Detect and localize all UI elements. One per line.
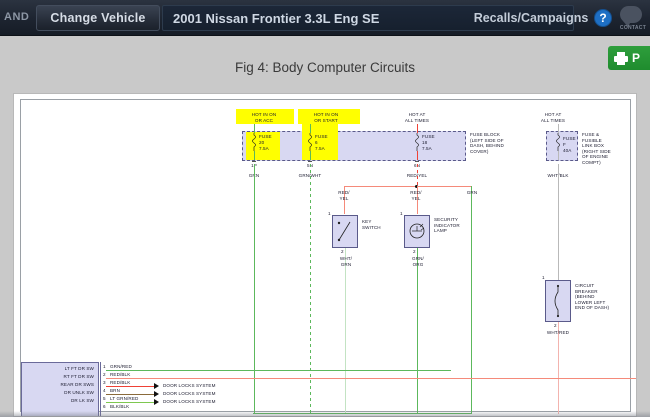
fuse-2-lead-bottom <box>310 151 311 160</box>
switch-label-rt-ft-dr-sw: RT FT DR SW <box>42 374 94 380</box>
diagram-canvas: HOT IN ON OR ACC HOT IN ON OR START HOT … <box>14 94 637 417</box>
destination-door-locks-2: DOOR LOCKS SYSTEM <box>163 391 216 397</box>
arrow-door-locks-2 <box>154 391 159 397</box>
hot-label-1-line2-top: OR ACC <box>236 118 292 124</box>
wire-red-yel-trunk <box>417 164 419 186</box>
wiring-diagram-panel[interactable]: HOT IN ON OR ACC HOT IN ON OR START HOT … <box>13 93 637 417</box>
wire-grn-wht-trunk <box>310 164 312 414</box>
wire-wht-red-trunk <box>558 322 559 414</box>
fuse-1-lead-top <box>254 124 255 133</box>
key-switch-caption: KEY SWITCH <box>362 219 392 230</box>
circuit-breaker-caption: CIRCUIT BREAKER (BEHIND LOWER LEFT END O… <box>575 283 623 311</box>
print-button-label: P <box>632 51 640 65</box>
wire-grn-org-trunk <box>417 248 418 414</box>
wire-label-grn-org: GRN/ ORG <box>404 256 432 267</box>
recalls-campaigns-link[interactable]: Recalls/Campaigns <box>474 5 588 31</box>
wire-label-red-yel-lamp: RED/ YEL <box>402 190 430 201</box>
fuse-2-name: FUSE <box>315 134 328 140</box>
printer-icon <box>614 52 628 65</box>
wire-wht-grn-trunk <box>345 248 346 414</box>
key-switch-terminal-1: 1 <box>328 211 331 217</box>
fuse-3-lead-top <box>417 124 418 133</box>
module-pin-2: 2 <box>103 372 106 378</box>
top-navigation-bar: AND Change Vehicle 2001 Nissan Frontier … <box>0 0 650 36</box>
module-pin-5: 5 <box>103 396 106 402</box>
wire-grn-right-trunk <box>471 186 472 414</box>
page-title: Fig 4: Body Computer Circuits <box>0 60 650 75</box>
fuse-3-lead-bottom <box>417 151 418 160</box>
wire-lt-grn-red-out <box>106 402 154 403</box>
wire-red-blk-out-2 <box>106 386 154 387</box>
fuse-4-coil-icon <box>555 133 561 151</box>
module-wire-color-6: BLK/BLK <box>110 404 129 410</box>
key-switch-symbol-icon <box>334 217 356 246</box>
hot-label-4-line2: ALL TIMES <box>525 118 581 124</box>
module-wire-color-1: GRN/RED <box>110 364 132 370</box>
pin-tick-3 <box>415 161 419 162</box>
wire-grn-red-out <box>106 370 451 371</box>
module-wire-color-4: BRN <box>110 388 120 394</box>
fuse-3-number: 18 <box>422 140 427 146</box>
security-lamp-caption: SECURITY INDICATOR LAMP <box>434 217 468 234</box>
indicator-lamp-symbol-icon <box>408 221 427 241</box>
fuse-1-name: FUSE <box>259 134 272 140</box>
fuse-4-lead-top <box>558 124 559 133</box>
switch-label-rear-dr-sws: REAR DR SWS <box>42 382 94 388</box>
module-wire-color-3: RED/BLK <box>110 380 130 386</box>
fuse-2-coil-icon <box>307 133 313 151</box>
module-pin-4: 4 <box>103 388 106 394</box>
wire-label-grn-right: GRN <box>458 190 486 196</box>
fuse-4-number: F <box>563 142 566 148</box>
circuit-breaker-terminal-1: 1 <box>542 275 545 281</box>
module-wire-color-2: RED/BLK <box>110 372 130 378</box>
wire-brn-out <box>106 394 154 395</box>
fuse-1-rating: 7.5A <box>259 146 269 152</box>
fuse-3-rating: 7.5A <box>422 146 432 152</box>
wire-wht-blk-trunk <box>558 164 559 280</box>
brand-logo-fragment: AND <box>4 11 29 23</box>
key-switch-terminal-2: 2 <box>341 249 344 255</box>
security-lamp-terminal-2: 2 <box>413 249 416 255</box>
help-icon[interactable]: ? <box>594 9 612 27</box>
arrow-door-locks-3 <box>154 399 159 405</box>
hot-label-3-line2: ALL TIMES <box>389 118 445 124</box>
fuse-2-number: 6 <box>315 140 318 146</box>
application-window: AND Change Vehicle 2001 Nissan Frontier … <box>0 0 650 417</box>
wire-red-blk-out-1 <box>106 378 637 379</box>
circuit-breaker-terminal-2: 2 <box>554 323 557 329</box>
page-body: Fig 4: Body Computer Circuits P HOT IN O… <box>0 36 650 417</box>
fuse-4-lead-bottom <box>558 151 559 160</box>
contact-label: CONTACT <box>618 25 648 31</box>
circuit-breaker-symbol-icon <box>551 283 565 319</box>
vehicle-name-label: 2001 Nissan Frontier 3.3L Eng SE <box>173 11 379 26</box>
module-pin-3: 3 <box>103 380 106 386</box>
module-pin-6: 6 <box>103 404 106 410</box>
wire-label-red-yel-key: RED/ YEL <box>330 190 358 201</box>
fusible-link-caption: FUSE & FUSIBLE LINK BOX (RIGHT SIDE OF E… <box>582 132 637 166</box>
bottom-shadow <box>0 411 650 417</box>
hot-label-2-line2-top: OR START <box>298 118 354 124</box>
fuse-3-name: FUSE <box>422 134 435 140</box>
switch-label-dr-unlk-sw: DR UNLK SW <box>42 390 94 396</box>
pin-tick-1 <box>252 161 256 162</box>
module-pin-1: 1 <box>103 364 106 370</box>
change-vehicle-button[interactable]: Change Vehicle <box>36 5 160 31</box>
connector-bracket <box>100 362 101 417</box>
module-wire-color-5: LT GRN/RED <box>110 396 138 402</box>
security-lamp-terminal-1: 1 <box>400 211 403 217</box>
fuse-4-name: FUSE <box>563 136 576 142</box>
wire-red-yel-bus <box>344 186 472 187</box>
wire-label-wht-red: WHT/RED <box>538 330 578 336</box>
fuse-1-number: 20 <box>259 140 264 146</box>
fuse-3-coil-icon <box>414 133 420 151</box>
destination-door-locks-3: DOOR LOCKS SYSTEM <box>163 399 216 405</box>
fuse-4-rating: 40A <box>563 148 571 154</box>
chat-bubble-icon <box>620 6 642 23</box>
fuse-1-lead-bottom <box>254 151 255 160</box>
fuse-1-coil-icon <box>251 133 257 151</box>
fuse-2-lead-top <box>310 124 311 133</box>
pin-tick-2 <box>308 161 312 162</box>
wire-label-wht-grn: WHT/ GRN <box>332 256 360 267</box>
fuse-block-caption: FUSE BLOCK (LEFT SIDE OF DASH, BEHIND CO… <box>470 132 530 154</box>
switch-label-dr-lk-sw: DR LK SW <box>42 398 94 404</box>
wire-grn-trunk-1 <box>254 164 255 414</box>
print-button[interactable]: P <box>608 46 650 70</box>
destination-door-locks-1: DOOR LOCKS SYSTEM <box>163 383 216 389</box>
switch-label-lt-ft-dr-sw: LT FT DR SW <box>42 366 94 372</box>
contact-button[interactable]: CONTACT <box>618 5 648 36</box>
arrow-door-locks-1 <box>154 383 159 389</box>
fuse-2-rating: 7.5A <box>315 146 325 152</box>
